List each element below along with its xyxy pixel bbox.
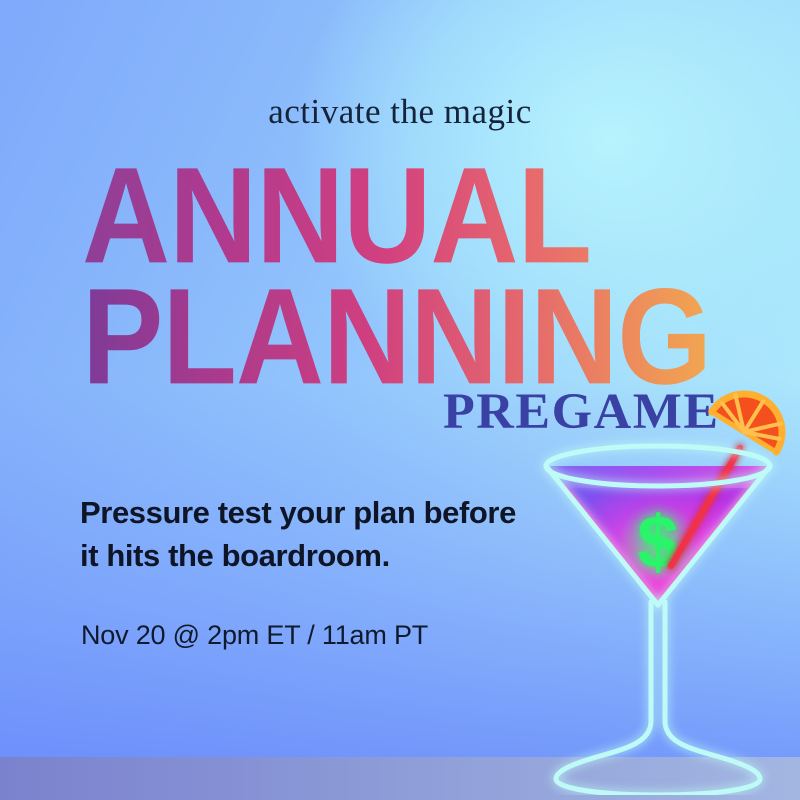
tagline: activate the magic (0, 92, 800, 132)
svg-text:$: $ (637, 501, 678, 584)
citrus-wheel-garnish (712, 380, 797, 452)
neon-martini-illustration: $ (508, 370, 800, 795)
event-datetime: Nov 20 @ 2pm ET / 11am PT (81, 620, 428, 651)
headline-line-annual: ANNUAL (82, 156, 711, 276)
promo-poster: activate the magic ANNUAL PLANNING PREGA… (0, 0, 800, 800)
subheadline: Pressure test your plan before it hits t… (80, 492, 520, 578)
headline-block: ANNUAL PLANNING (82, 156, 711, 385)
